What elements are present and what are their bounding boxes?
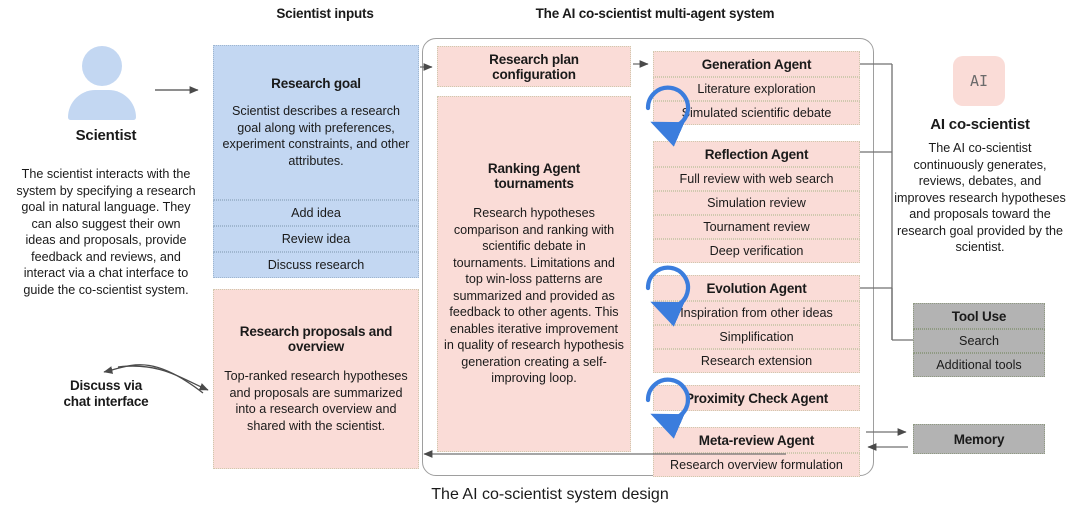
- agent-reflection-item-tournament-review[interactable]: Tournament review: [653, 215, 860, 239]
- memory-title: Memory: [954, 432, 1005, 447]
- discuss-via-chat-label-line1: Discuss via: [8, 378, 204, 393]
- research-goal-box[interactable]: Research goal Scientist describes a rese…: [213, 45, 419, 200]
- agent-name: Evolution Agent: [707, 281, 807, 296]
- agent-evolution-item-inspiration-from-other-ideas[interactable]: Inspiration from other ideas: [653, 301, 860, 325]
- agent-generation-item-literature-exploration[interactable]: Literature exploration: [653, 77, 860, 101]
- agent-reflection-item-deep-verification[interactable]: Deep verification: [653, 239, 860, 263]
- agent-reflection-item-simulation-review[interactable]: Simulation review: [653, 191, 860, 215]
- research-plan-title-line2: configuration: [492, 67, 576, 82]
- agent-name: Meta-review Agent: [699, 433, 814, 448]
- agent-item-label: Literature exploration: [697, 82, 815, 96]
- agent-item-label: Inspiration from other ideas: [680, 306, 833, 320]
- research-goal-description: Scientist describes a research goal alon…: [214, 103, 418, 169]
- ranking-agent-tournaments-box[interactable]: Ranking Agent tournaments Research hypot…: [437, 96, 631, 452]
- agent-item-label: Tournament review: [703, 220, 809, 234]
- ai-badge-text: AI: [970, 72, 988, 90]
- agent-item-label: Full review with web search: [680, 172, 834, 186]
- research-plan-configuration-box[interactable]: Research plan configuration: [437, 46, 631, 87]
- research-proposals-title: Research proposals and overview: [214, 324, 418, 354]
- agent-generation-item-simulated-scientific-debate[interactable]: Simulated scientific debate: [653, 101, 860, 125]
- tool-use-item-additional-tools[interactable]: Additional tools: [913, 353, 1045, 377]
- agent-evolution-item-simplification[interactable]: Simplification: [653, 325, 860, 349]
- diagram-canvas: Scientist inputs The AI co-scientist mul…: [0, 0, 1080, 516]
- action-label: Discuss research: [268, 258, 365, 272]
- memory-box[interactable]: Memory: [913, 424, 1045, 454]
- agent-item-label: Research extension: [701, 354, 812, 368]
- tool-use-header[interactable]: Tool Use: [913, 303, 1045, 329]
- agent-reflection-header[interactable]: Reflection Agent: [653, 141, 860, 167]
- agent-evolution-item-research-extension[interactable]: Research extension: [653, 349, 860, 373]
- agent-name: Proximity Check Agent: [685, 391, 828, 406]
- tool-use-title: Tool Use: [952, 309, 1006, 324]
- agent-name: Generation Agent: [702, 57, 812, 72]
- section-title-scientist-inputs: Scientist inputs: [210, 6, 440, 21]
- ai-coscientist-title: AI co-scientist: [890, 116, 1070, 133]
- agent-name: Reflection Agent: [705, 147, 809, 162]
- action-label: Add idea: [291, 206, 341, 220]
- tool-item-label: Search: [959, 334, 999, 348]
- diagram-caption: The AI co-scientist system design: [240, 486, 860, 504]
- tool-item-label: Additional tools: [936, 358, 1021, 372]
- agent-generation-header[interactable]: Generation Agent: [653, 51, 860, 77]
- research-goal-action-discuss-research[interactable]: Discuss research: [213, 252, 419, 278]
- agent-proximity-check-header[interactable]: Proximity Check Agent: [653, 385, 860, 411]
- research-goal-title: Research goal: [271, 76, 361, 91]
- research-proposals-description: Top-ranked research hypotheses and propo…: [214, 368, 418, 434]
- section-title-multi-agent-system: The AI co-scientist multi-agent system: [440, 6, 870, 21]
- agent-item-label: Research overview formulation: [670, 458, 843, 472]
- ai-badge: AI: [953, 56, 1005, 106]
- scientist-description: The scientist interacts with the system …: [8, 166, 204, 298]
- ranking-agent-title-line2: tournaments: [494, 176, 574, 191]
- tool-use-item-search[interactable]: Search: [913, 329, 1045, 353]
- scientist-name: Scientist: [8, 127, 204, 144]
- agent-item-label: Deep verification: [710, 244, 804, 258]
- research-proposals-box[interactable]: Research proposals and overview Top-rank…: [213, 289, 419, 469]
- agent-item-label: Simplification: [719, 330, 793, 344]
- ranking-agent-title-line1: Ranking Agent: [488, 161, 580, 176]
- research-goal-action-add-idea[interactable]: Add idea: [213, 200, 419, 226]
- agent-item-label: Simulated scientific debate: [682, 106, 832, 120]
- scientist-block: Scientist The scientist interacts with t…: [8, 42, 204, 382]
- ai-coscientist-description: The AI co-scientist continuously generat…: [890, 140, 1070, 256]
- agent-meta-review-header[interactable]: Meta-review Agent: [653, 427, 860, 453]
- agent-reflection-item-full-review-with-web-search[interactable]: Full review with web search: [653, 167, 860, 191]
- agent-meta-review-item-research-overview-formulation[interactable]: Research overview formulation: [653, 453, 860, 477]
- agent-item-label: Simulation review: [707, 196, 806, 210]
- discuss-via-chat-label-line2: chat interface: [8, 394, 204, 409]
- ranking-agent-description: Research hypotheses comparison and ranki…: [438, 205, 630, 387]
- research-goal-action-review-idea[interactable]: Review idea: [213, 226, 419, 252]
- person-icon: [8, 42, 204, 120]
- research-plan-title-line1: Research plan: [489, 52, 579, 67]
- action-label: Review idea: [282, 232, 351, 246]
- agent-evolution-header[interactable]: Evolution Agent: [653, 275, 860, 301]
